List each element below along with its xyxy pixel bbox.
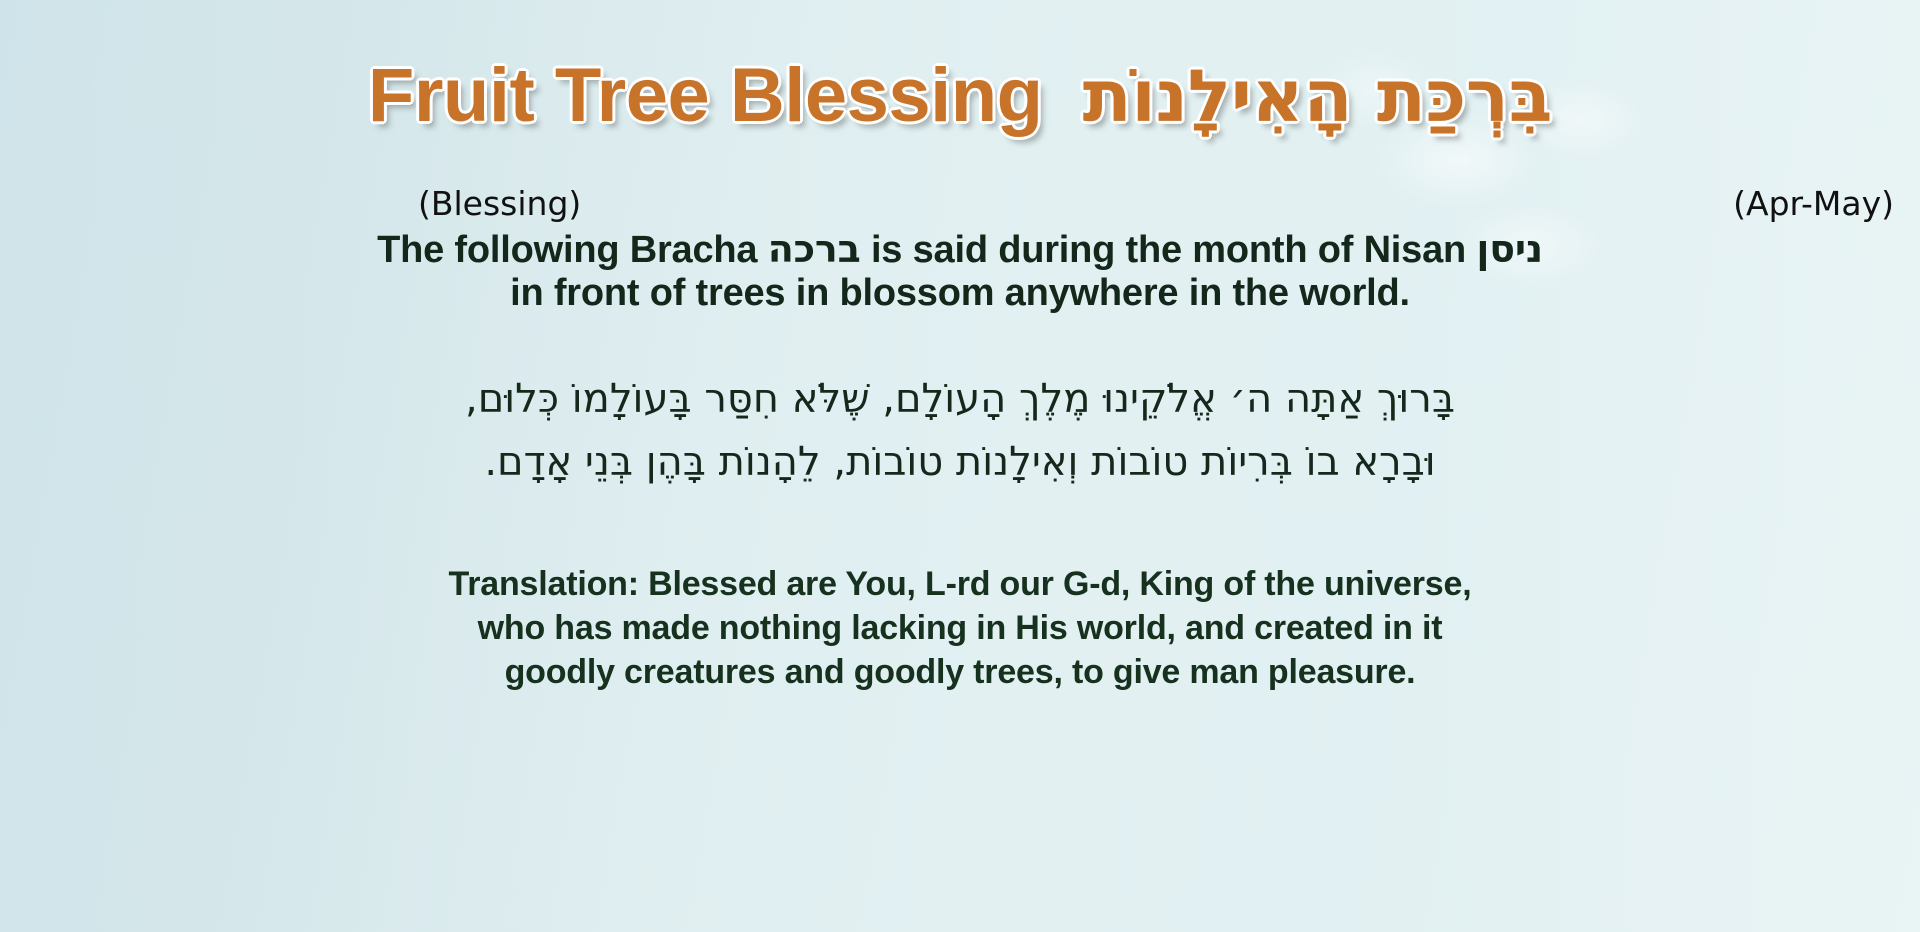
intro-line-2: in front of trees in blossom anywhere in… bbox=[20, 272, 1900, 315]
translation-line-3: goodly creatures and goodly trees, to gi… bbox=[60, 650, 1860, 694]
intro-hebrew-nisan: ניסן bbox=[1476, 227, 1542, 271]
translation-line-1: Translation: Blessed are You, L-rd our G… bbox=[60, 562, 1860, 606]
title-row: Fruit Tree Blessing בִּרְכַּת הָאִילָנוֹ… bbox=[0, 58, 1920, 134]
intro-hebrew-bracha: ברכה bbox=[768, 227, 861, 271]
page-title-english: Fruit Tree Blessing bbox=[368, 58, 1043, 134]
intro-line-1: The following Bracha ברכה is said during… bbox=[20, 228, 1900, 272]
intro-text-1: The following Bracha bbox=[377, 229, 768, 271]
card-content: Fruit Tree Blessing בִּרְכַּת הָאִילָנוֹ… bbox=[0, 0, 1920, 932]
intro-paragraph: The following Bracha ברכה is said during… bbox=[20, 228, 1900, 314]
intro-text-2: is said during the month of Nisan bbox=[861, 229, 1477, 271]
bracha-line-2: וּבָרָא בוֹ בְּרִיוֹת טוֹבוֹת וְאִילָנוֹ… bbox=[40, 431, 1880, 494]
subtitle-month-note: (Apr-May) bbox=[1733, 184, 1894, 223]
bracha-hebrew-text: בָּרוּךְ אַתָּה ה׳ אֱלֹקֵינוּ מֶלֶךְ הָע… bbox=[40, 368, 1880, 494]
translation-line-2: who has made nothing lacking in His worl… bbox=[60, 606, 1860, 650]
bracha-line-1: בָּרוּךְ אַתָּה ה׳ אֱלֹקֵינוּ מֶלֶךְ הָע… bbox=[40, 368, 1880, 431]
page-title-hebrew: בִּרְכַּת הָאִילָנוֹת bbox=[1083, 60, 1552, 132]
subtitle-blessing-note: (Blessing) bbox=[418, 184, 581, 223]
translation-paragraph: Translation: Blessed are You, L-rd our G… bbox=[60, 562, 1860, 695]
fruit-tree-blessing-card: Fruit Tree Blessing בִּרְכַּת הָאִילָנוֹ… bbox=[0, 0, 1920, 932]
